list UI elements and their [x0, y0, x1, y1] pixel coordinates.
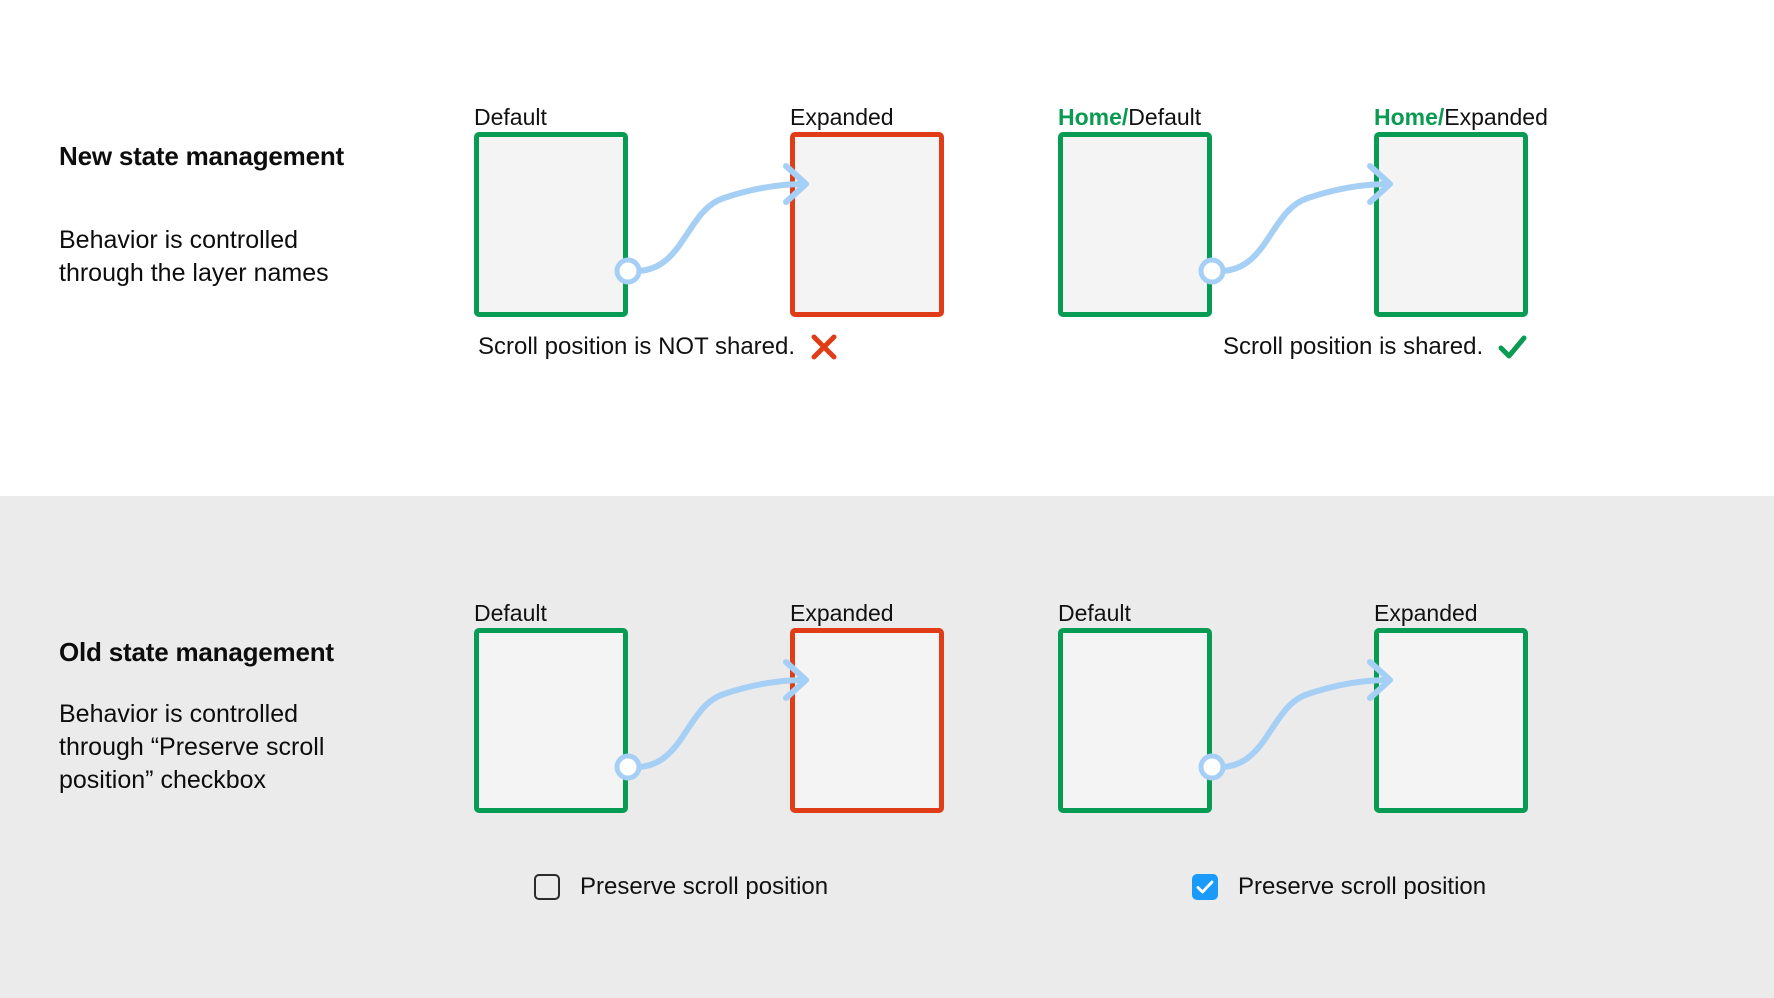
new-state-management-panel: New state management Behavior is control…: [0, 0, 1774, 496]
interaction-connector: [614, 132, 814, 332]
frame-label-target-name: Expanded: [790, 600, 894, 626]
new-state-pair-shared: Home/Default Home/Expanded Scroll positi…: [1058, 106, 1528, 406]
frame-box-target[interactable]: [790, 132, 944, 317]
frame-label-source-name: Default: [474, 600, 547, 626]
frame-label-source: Default: [474, 106, 547, 129]
cross-icon: [809, 332, 839, 362]
frame-label-source-name: Default: [1058, 600, 1131, 626]
frame-label-target-name: Expanded: [1374, 600, 1478, 626]
new-state-pair-unshared: Default Expanded Scroll position is NOT …: [474, 106, 944, 406]
frame-label-source: Default: [1058, 602, 1131, 625]
old-state-management-panel: Old state management Behavior is control…: [0, 496, 1774, 998]
frame-box-source[interactable]: [1058, 628, 1212, 813]
frame-label-target-prefix: Home: [1374, 104, 1438, 130]
preserve-scroll-position-row[interactable]: Preserve scroll position: [534, 874, 828, 900]
frame-label-source-name: Default: [1128, 104, 1201, 130]
frame-label-target-name: Expanded: [790, 104, 894, 130]
frame-label-source-name: Default: [474, 104, 547, 130]
frame-label-source: Home/Default: [1058, 106, 1201, 129]
frame-box-target[interactable]: [1374, 132, 1528, 317]
frame-box-source[interactable]: [474, 628, 628, 813]
interaction-connector: [1198, 628, 1398, 828]
frame-label-target: Expanded: [790, 602, 894, 625]
frame-box-target[interactable]: [1374, 628, 1528, 813]
frame-box-target[interactable]: [790, 628, 944, 813]
caption-shared: Scroll position is shared.: [1223, 332, 1527, 362]
frame-label-target: Expanded: [1374, 602, 1478, 625]
old-state-title: Old state management: [59, 636, 389, 670]
check-icon: [1497, 332, 1527, 362]
frame-label-target: Expanded: [790, 106, 894, 129]
frame-label-target: Home/Expanded: [1374, 106, 1548, 129]
preserve-scroll-position-row[interactable]: Preserve scroll position: [1192, 874, 1486, 900]
caption-text: Scroll position is NOT shared.: [478, 335, 795, 359]
frame-label-target-name: Expanded: [1444, 104, 1548, 130]
frame-label-source: Default: [474, 602, 547, 625]
preserve-scroll-position-checkbox[interactable]: [534, 874, 560, 900]
preserve-scroll-position-label: Preserve scroll position: [1238, 875, 1486, 899]
checkmark-icon: [1192, 874, 1218, 900]
frame-box-source[interactable]: [1058, 132, 1212, 317]
preserve-scroll-position-label: Preserve scroll position: [580, 875, 828, 899]
interaction-connector: [1198, 132, 1398, 332]
caption-unshared: Scroll position is NOT shared.: [478, 332, 839, 362]
caption-text: Scroll position is shared.: [1223, 335, 1483, 359]
old-state-body: Behavior is controlled through “Preserve…: [59, 698, 379, 797]
frame-label-source-prefix: Home: [1058, 104, 1122, 130]
old-state-pair-checked: Default Expanded Preserve scroll positio…: [1058, 602, 1528, 932]
new-state-title: New state management: [59, 140, 379, 174]
interaction-connector: [614, 628, 814, 828]
frame-box-source[interactable]: [474, 132, 628, 317]
old-state-pair-unchecked: Default Expanded Preserve scroll positio…: [474, 602, 944, 932]
new-state-body: Behavior is controlled through the layer…: [59, 224, 359, 290]
preserve-scroll-position-checkbox[interactable]: [1192, 874, 1218, 900]
